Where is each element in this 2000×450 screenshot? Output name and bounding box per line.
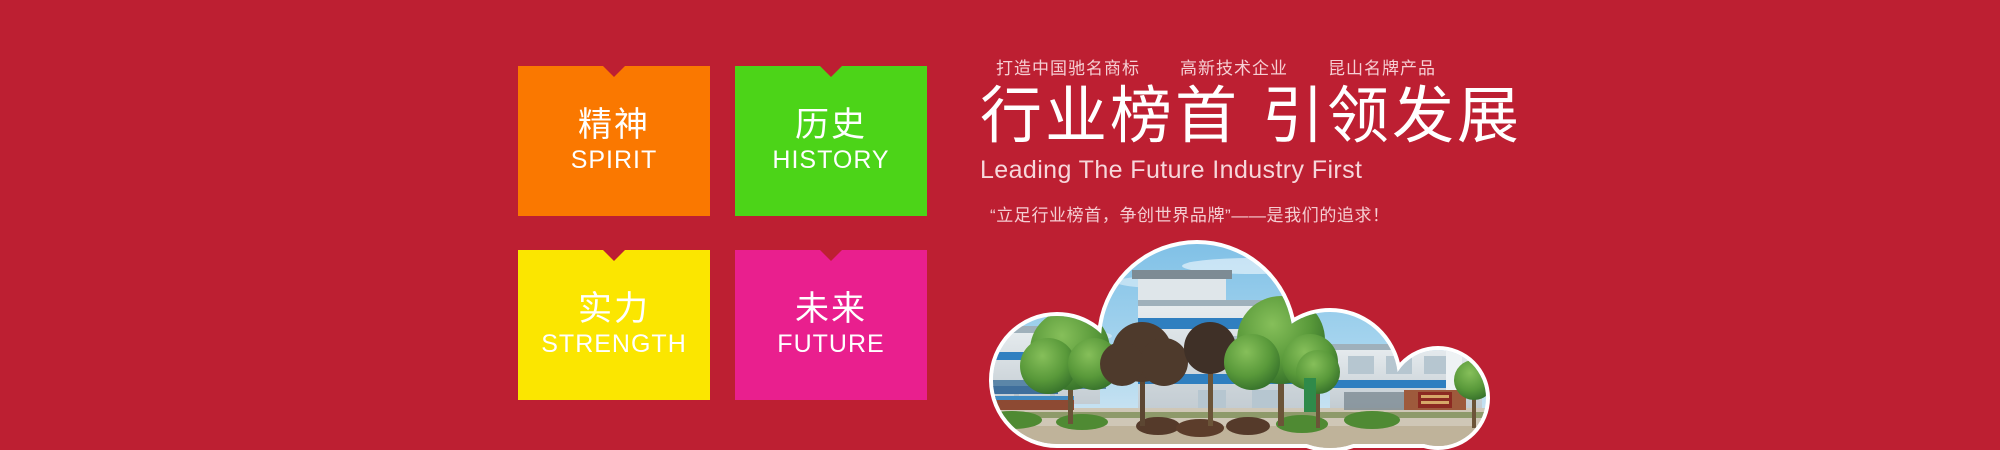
tile-future-en-label: FUTURE — [777, 329, 884, 360]
tile-spirit[interactable]: 精神 SPIRIT — [518, 66, 710, 216]
tile-spirit-cn-label: 精神 — [578, 106, 650, 145]
tile-history-cn-label: 历史 — [795, 106, 867, 145]
page-title: 行业榜首引领发展 — [980, 84, 1540, 150]
facility-photo-collage — [952, 240, 1512, 450]
tile-history[interactable]: 历史 HISTORY — [735, 66, 927, 216]
tagline-trademark: 打造中国驰名商标 — [996, 54, 1140, 79]
tile-future-cn-label: 未来 — [795, 290, 867, 329]
tile-future[interactable]: 未来 FUTURE — [735, 250, 927, 400]
company-slogan-quote: “立足行业榜首，争创世界品牌”——是我们的追求！ — [990, 201, 1540, 226]
tagline-hightech: 高新技术企业 — [1180, 54, 1288, 79]
tile-strength[interactable]: 实力 STRENGTH — [518, 250, 710, 400]
headline-block: 打造中国驰名商标 高新技术企业 昆山名牌产品 行业榜首引领发展 Leading … — [980, 54, 1540, 226]
subtitle-english: Leading The Future Industry First — [980, 156, 1540, 185]
cloud-photo-content — [952, 240, 1512, 450]
tile-spirit-en-label: SPIRIT — [571, 145, 658, 176]
tile-strength-cn-label: 实力 — [578, 290, 650, 329]
headline-part-2: 引领发展 — [1262, 82, 1522, 151]
cloud-photo-svg — [952, 240, 1512, 450]
tagline-brand: 昆山名牌产品 — [1328, 54, 1436, 79]
tile-history-en-label: HISTORY — [772, 145, 889, 176]
promo-banner: 精神 SPIRIT 历史 HISTORY 实力 STRENGTH 未来 FUTU… — [0, 0, 2000, 450]
tile-grid: 精神 SPIRIT 历史 HISTORY 实力 STRENGTH 未来 FUTU… — [518, 66, 918, 406]
headline-part-1: 行业榜首 — [980, 82, 1240, 151]
tile-strength-en-label: STRENGTH — [541, 329, 687, 360]
tagline-row: 打造中国驰名商标 高新技术企业 昆山名牌产品 — [996, 54, 1540, 79]
